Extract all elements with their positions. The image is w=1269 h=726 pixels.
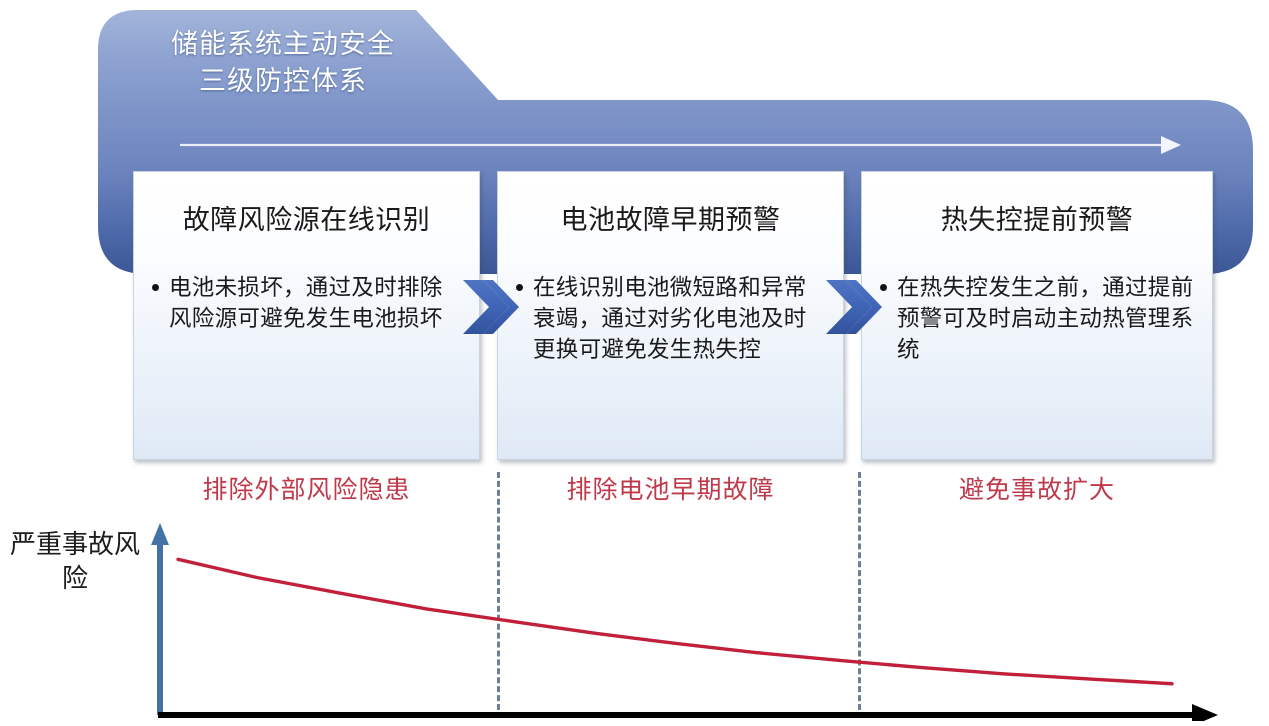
slide-canvas: 储能系统主动安全 三级防控体系 故障风险源在线识别 电池未损坏，通过及时排除风险… (0, 0, 1269, 721)
stage-panel-3-bullet: 在热失控发生之前，通过提前预警可及时启动主动热管理系统 (897, 272, 1196, 365)
stage-panel-2-bullet: 在线识别电池微短路和异常衰竭，通过对劣化电池及时更换可避免发生热失控 (533, 272, 827, 365)
stage-caption-2: 排除电池早期故障 (497, 470, 844, 506)
stage-caption-1: 排除外部风险隐患 (133, 470, 480, 506)
stage-panel-3-body: 在热失控发生之前，通过提前预警可及时启动主动热管理系统 (880, 272, 1196, 365)
stage-caption-3: 避免事故扩大 (861, 470, 1213, 506)
stage-panel-3[interactable]: 热失控提前预警 在热失控发生之前，通过提前预警可及时启动主动热管理系统 (861, 171, 1213, 460)
stage-panel-1[interactable]: 故障风险源在线识别 电池未损坏，通过及时排除风险源可避免发生电池损坏 (133, 171, 480, 460)
chevron-right-icon-2 (824, 278, 884, 336)
chart-y-axis-arrowhead (151, 523, 169, 545)
stage-panel-2[interactable]: 电池故障早期预警 在线识别电池微短路和异常衰竭，通过对劣化电池及时更换可避免发生… (497, 171, 844, 460)
banner-title: 储能系统主动安全 三级防控体系 (118, 26, 448, 100)
chart-series-severe-accident-risk (178, 559, 1172, 683)
stage-panel-1-title: 故障风险源在线识别 (134, 198, 479, 237)
chart-x-axis-arrowhead (1192, 704, 1218, 721)
stage-panel-1-bullet: 电池未损坏，通过及时排除风险源可避免发生电池损坏 (169, 272, 463, 334)
chevron-right-icon-1 (461, 278, 521, 336)
chart-y-axis-label: 严重事故风险 (6, 527, 144, 595)
risk-decay-chart: 严重事故风险 (0, 505, 1269, 721)
stage-panel-1-body: 电池未损坏，通过及时排除风险源可避免发生电池损坏 (152, 272, 463, 334)
chart-plot-area (0, 505, 1269, 721)
stage-panel-2-title: 电池故障早期预警 (498, 198, 843, 237)
stage-panel-3-title: 热失控提前预警 (862, 198, 1212, 237)
bullet-icon (152, 284, 159, 291)
stage-panel-2-body: 在线识别电池微短路和异常衰竭，通过对劣化电池及时更换可避免发生热失控 (516, 272, 827, 365)
